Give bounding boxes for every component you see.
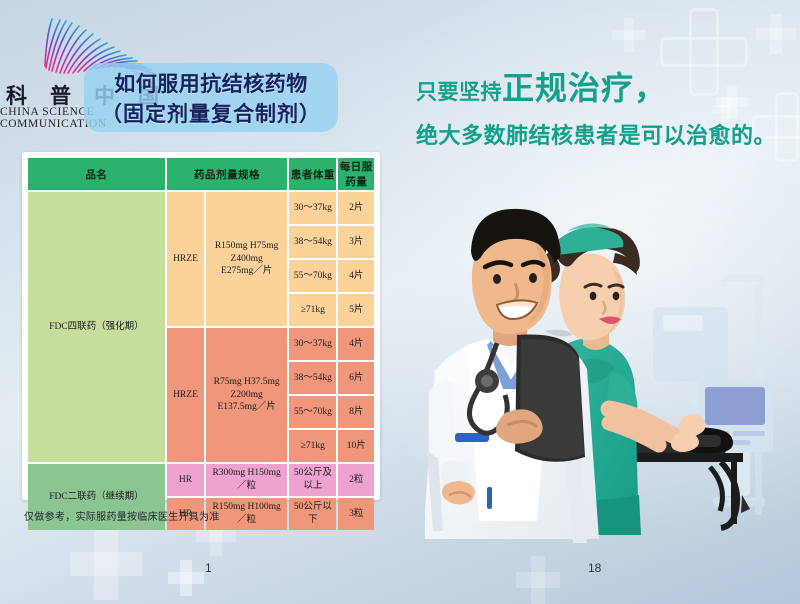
table-header-name: 品名 bbox=[28, 158, 165, 190]
drug-spec-cell-3: R300mg H150mg／粒 bbox=[206, 464, 287, 496]
weight-cell: 50公斤以下 bbox=[289, 498, 336, 530]
headline-line1-small: 只要坚持 bbox=[416, 80, 502, 104]
table-header-row: 品名 药品剂量规格 患者体重 每日服药量 bbox=[28, 158, 374, 190]
page-number-left: 1 bbox=[205, 561, 212, 575]
dose-cell: 6片 bbox=[338, 362, 374, 394]
slide-canvas: 科 普 中 国 CHINA SCIENCE COMMUNICATION 如何服用… bbox=[0, 0, 800, 604]
drug-code-cell-2: HRZE bbox=[167, 328, 204, 462]
dose-cell: 2片 bbox=[338, 192, 374, 224]
decor-cross-filled-6 bbox=[168, 560, 204, 596]
footnote: 仅做参考，实际服药量按临床医生开具为准 bbox=[24, 508, 220, 523]
slide-title-line2: （固定剂量复合制剂） bbox=[84, 98, 338, 128]
table-row: FDC四联药（强化期） HRZE R150mg H75mg Z400mg E27… bbox=[28, 192, 374, 224]
decor-cross-filled-2 bbox=[756, 14, 796, 54]
table-header-weight: 患者体重 bbox=[289, 158, 336, 190]
drug-spec-line1: R75mg H37.5mg Z200mg bbox=[214, 377, 280, 400]
drug-spec-line2: E275mg／片 bbox=[221, 266, 272, 276]
drug-spec-line1: R150mg H75mg Z400mg bbox=[215, 241, 279, 264]
weight-cell: ≥71kg bbox=[289, 430, 336, 462]
decor-cross-filled-1 bbox=[612, 18, 646, 52]
table-header-dose: 每日服药量 bbox=[338, 158, 374, 190]
headline-line1-big: 正规治疗， bbox=[502, 69, 667, 107]
dose-cell: 8片 bbox=[338, 396, 374, 428]
dosage-table: 品名 药品剂量规格 患者体重 每日服药量 FDC四联药（强化期） HRZE R1… bbox=[26, 156, 376, 532]
drug-spec-line2: E137.5mg／片 bbox=[217, 402, 275, 412]
drug-spec-cell-1: R150mg H75mg Z400mg E275mg／片 bbox=[206, 192, 287, 326]
weight-cell: 38～54kg bbox=[289, 226, 336, 258]
page-number-right: 18 bbox=[588, 561, 601, 575]
dose-cell: 5片 bbox=[338, 294, 374, 326]
group-name-cell-1: FDC四联药（强化期） bbox=[28, 192, 165, 462]
table-header-spec: 药品剂量规格 bbox=[167, 158, 287, 190]
weight-cell: 50公斤及以上 bbox=[289, 464, 336, 496]
dose-cell: 4片 bbox=[338, 260, 374, 292]
headline-line2: 绝大多数肺结核患者是可以治愈的。 bbox=[416, 118, 786, 150]
doctor-nurse-illustration bbox=[425, 195, 800, 565]
drug-code-cell-1: HRZE bbox=[167, 192, 204, 326]
dosage-table-frame: 品名 药品剂量规格 患者体重 每日服药量 FDC四联药（强化期） HRZE R1… bbox=[22, 152, 380, 500]
dose-cell: 4片 bbox=[338, 328, 374, 360]
weight-cell: 55～70kg bbox=[289, 396, 336, 428]
drug-code-cell-3: HR bbox=[167, 464, 204, 496]
slide-title-line1: 如何服用抗结核药物 bbox=[84, 68, 338, 98]
table-row: FDC二联药（继续期） HR R300mg H150mg／粒 50公斤及以上 2… bbox=[28, 464, 374, 496]
weight-cell: 55～70kg bbox=[289, 260, 336, 292]
drug-spec-cell-2: R75mg H37.5mg Z200mg E137.5mg／片 bbox=[206, 328, 287, 462]
headline: 只要坚持正规治疗， 绝大多数肺结核患者是可以治愈的。 bbox=[416, 72, 786, 150]
decor-cross-filled-5 bbox=[70, 528, 142, 600]
weight-cell: 30～37kg bbox=[289, 192, 336, 224]
dose-cell: 2粒 bbox=[338, 464, 374, 496]
headline-line1: 只要坚持正规治疗， bbox=[416, 72, 786, 104]
dose-cell: 3粒 bbox=[338, 498, 374, 530]
slide-title-box: 如何服用抗结核药物 （固定剂量复合制剂） bbox=[84, 63, 338, 132]
weight-cell: 30～37kg bbox=[289, 328, 336, 360]
weight-cell: ≥71kg bbox=[289, 294, 336, 326]
dose-cell: 3片 bbox=[338, 226, 374, 258]
dose-cell: 10片 bbox=[338, 430, 374, 462]
weight-cell: 38～54kg bbox=[289, 362, 336, 394]
